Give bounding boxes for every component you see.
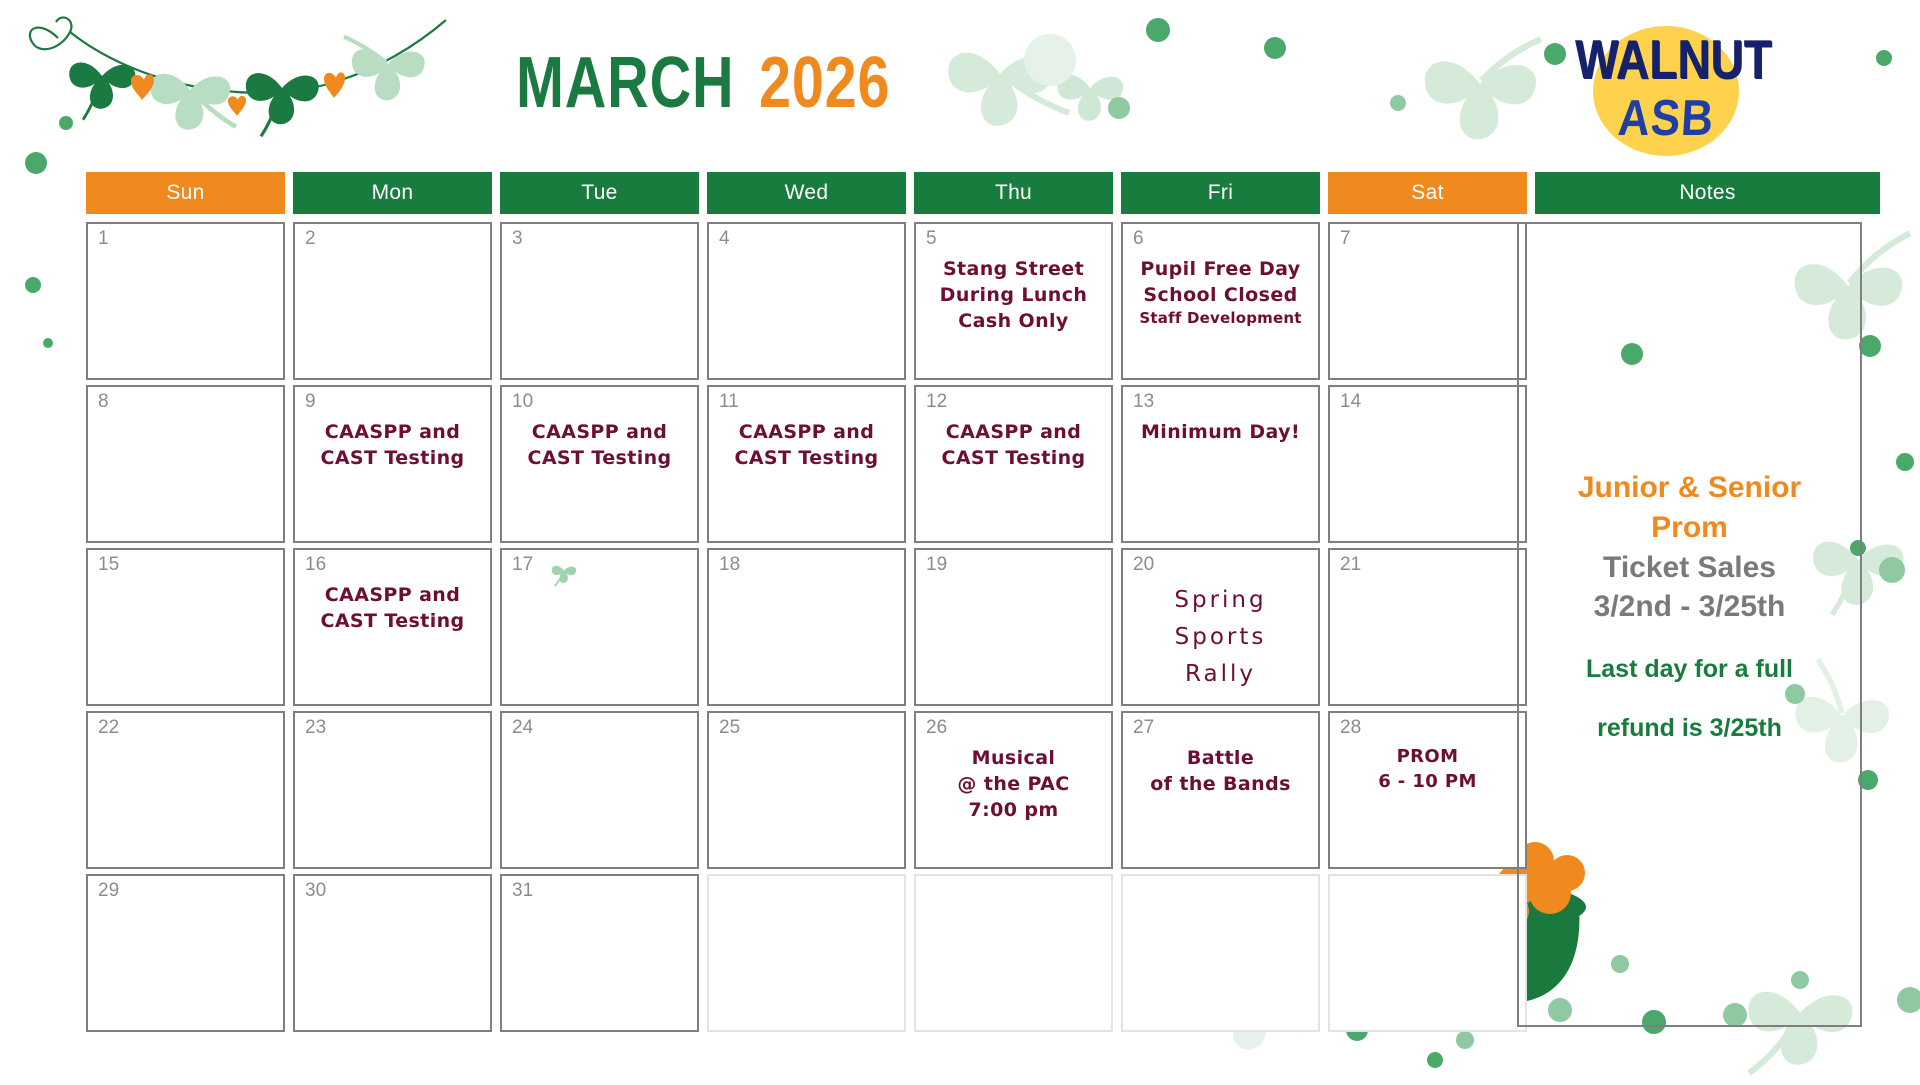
event-block: Spring Sports Rally — [1131, 582, 1310, 692]
day-number: 13 — [1133, 392, 1154, 411]
day-number: 30 — [305, 881, 326, 900]
calendar-cell[interactable]: 24 — [500, 711, 699, 869]
calendar-cell[interactable]: 30 — [293, 874, 492, 1032]
day-number: 4 — [719, 229, 730, 248]
calendar-cell[interactable]: 23 — [293, 711, 492, 869]
calendar-cell[interactable]: 1 — [86, 222, 285, 380]
calendar-cell[interactable]: 12CAASPP and CAST Testing — [914, 385, 1113, 543]
notes-line-3: Ticket Sales — [1533, 548, 1846, 588]
calendar-cell[interactable]: 9CAASPP and CAST Testing — [293, 385, 492, 543]
day-number: 12 — [926, 392, 947, 411]
event-text: CAASPP and CAST Testing — [303, 419, 482, 471]
title-month: MARCH — [516, 42, 734, 124]
calendar-cell[interactable]: 28PROM 6 - 10 PM — [1328, 711, 1527, 869]
calendar-cell-empty[interactable] — [707, 874, 906, 1032]
notes-line-4: 3/2nd - 3/25th — [1533, 587, 1846, 627]
day-number: 14 — [1340, 392, 1361, 411]
calendar-cell[interactable]: 10CAASPP and CAST Testing — [500, 385, 699, 543]
shamrock-garland-icon — [18, 6, 448, 141]
day-number: 11 — [719, 392, 739, 411]
calendar-cell[interactable]: 14 — [1328, 385, 1527, 543]
event-block: CAASPP and CAST Testing — [717, 419, 896, 471]
notes-line-5: Last day for a full — [1533, 653, 1846, 686]
day-number: 26 — [926, 718, 947, 737]
walnut-asb-logo: WALNUT ASB — [1575, 18, 1757, 168]
column-header-sat: Sat — [1328, 172, 1527, 214]
calendar-cell[interactable]: 31 — [500, 874, 699, 1032]
event-block: Stang Street During Lunch Cash Only — [924, 256, 1103, 335]
day-number: 24 — [512, 718, 533, 737]
day-number: 7 — [1340, 229, 1351, 248]
calendar-cell-empty[interactable] — [1121, 874, 1320, 1032]
day-number: 10 — [512, 392, 533, 411]
calendar-cell[interactable]: 17 — [500, 548, 699, 706]
notes-line-6: refund is 3/25th — [1533, 712, 1846, 745]
event-block: Battle of the Bands — [1131, 745, 1310, 797]
event-text: Minimum Day! — [1131, 419, 1310, 445]
calendar-cell[interactable]: 7 — [1328, 222, 1527, 380]
calendar-cell[interactable]: 29 — [86, 874, 285, 1032]
day-number: 15 — [98, 555, 119, 574]
calendar-cell[interactable]: 26Musical @ the PAC 7:00 pm — [914, 711, 1113, 869]
page-title: MARCH 2026 — [516, 42, 923, 124]
calendar-grid: 12345Stang Street During Lunch Cash Only… — [86, 222, 1527, 1032]
calendar-cell[interactable]: 16CAASPP and CAST Testing — [293, 548, 492, 706]
day-number: 17 — [512, 555, 533, 574]
logo-line-1: WALNUT — [1575, 27, 1757, 91]
calendar-cell[interactable]: 6Pupil Free Day School ClosedStaff Devel… — [1121, 222, 1320, 380]
day-number: 6 — [1133, 229, 1144, 248]
calendar-cell[interactable]: 13Minimum Day! — [1121, 385, 1320, 543]
event-text: CAASPP and CAST Testing — [303, 582, 482, 634]
calendar-cell[interactable]: 25 — [707, 711, 906, 869]
event-block: Pupil Free Day School ClosedStaff Develo… — [1131, 256, 1310, 329]
calendar-cell[interactable]: 18 — [707, 548, 906, 706]
day-number: 5 — [926, 229, 937, 248]
calendar-cell-empty[interactable] — [914, 874, 1113, 1032]
calendar-cell[interactable]: 22 — [86, 711, 285, 869]
column-header-thu: Thu — [914, 172, 1113, 214]
event-text: Battle of the Bands — [1131, 745, 1310, 797]
column-header-tue: Tue — [500, 172, 699, 214]
logo-line-2: ASB — [1573, 90, 1758, 148]
day-number: 1 — [98, 229, 109, 248]
day-number: 25 — [719, 718, 740, 737]
day-number: 9 — [305, 392, 316, 411]
event-block: CAASPP and CAST Testing — [303, 419, 482, 471]
event-block: CAASPP and CAST Testing — [303, 582, 482, 634]
calendar-cell[interactable]: 5Stang Street During Lunch Cash Only — [914, 222, 1113, 380]
event-subtext: Staff Development — [1131, 308, 1310, 329]
weekday-header-row: SunMonTueWedThuFriSatNotes — [86, 172, 1880, 214]
column-header-sun: Sun — [86, 172, 285, 214]
calendar-cell[interactable]: 8 — [86, 385, 285, 543]
day-number: 16 — [305, 555, 326, 574]
event-text: Stang Street During Lunch Cash Only — [924, 256, 1103, 335]
day-number: 19 — [926, 555, 947, 574]
event-text: Pupil Free Day School Closed — [1131, 256, 1310, 308]
calendar-page: MARCH 2026 WALNUT ASB SunMonTueWedThuFri… — [0, 0, 1920, 1080]
shamrock-icon — [548, 556, 582, 590]
day-number: 31 — [512, 881, 533, 900]
event-block: CAASPP and CAST Testing — [924, 419, 1103, 471]
event-text: CAASPP and CAST Testing — [510, 419, 689, 471]
day-number: 22 — [98, 718, 119, 737]
day-number: 20 — [1133, 555, 1154, 574]
day-number: 27 — [1133, 718, 1154, 737]
event-text: Musical @ the PAC 7:00 pm — [924, 745, 1103, 824]
calendar-cell[interactable]: 4 — [707, 222, 906, 380]
event-text: Spring Sports Rally — [1131, 582, 1310, 692]
notes-line-2: Prom — [1533, 508, 1846, 548]
calendar-cell[interactable]: 15 — [86, 548, 285, 706]
event-block: Musical @ the PAC 7:00 pm — [924, 745, 1103, 824]
event-text: CAASPP and CAST Testing — [717, 419, 896, 471]
event-block: Minimum Day! — [1131, 419, 1310, 445]
day-number: 2 — [305, 229, 316, 248]
notes-panel[interactable]: Junior & Senior Prom Ticket Sales 3/2nd … — [1517, 222, 1862, 1027]
event-block: PROM 6 - 10 PM — [1338, 745, 1517, 795]
column-header-mon: Mon — [293, 172, 492, 214]
column-header-fri: Fri — [1121, 172, 1320, 214]
column-header-wed: Wed — [707, 172, 906, 214]
day-number: 23 — [305, 718, 326, 737]
calendar-cell[interactable]: 27Battle of the Bands — [1121, 711, 1320, 869]
day-number: 18 — [719, 555, 740, 574]
calendar-cell[interactable]: 19 — [914, 548, 1113, 706]
day-number: 21 — [1340, 555, 1361, 574]
event-text: CAASPP and CAST Testing — [924, 419, 1103, 471]
calendar-cell[interactable]: 11CAASPP and CAST Testing — [707, 385, 906, 543]
day-number: 29 — [98, 881, 119, 900]
calendar-cell[interactable]: 21 — [1328, 548, 1527, 706]
clover-cluster-topright-icon — [1400, 14, 1580, 164]
event-text: PROM 6 - 10 PM — [1338, 745, 1517, 795]
notes-line-1: Junior & Senior — [1533, 468, 1846, 508]
day-number: 3 — [512, 229, 523, 248]
title-year: 2026 — [759, 42, 890, 124]
calendar-cell[interactable]: 20Spring Sports Rally — [1121, 548, 1320, 706]
calendar-cell-empty[interactable] — [1328, 874, 1527, 1032]
clover-cluster-top-icon — [940, 18, 1160, 148]
calendar-cell[interactable]: 3 — [500, 222, 699, 380]
day-number: 8 — [98, 392, 109, 411]
column-header-notes: Notes — [1535, 172, 1880, 214]
day-number: 28 — [1340, 718, 1361, 737]
event-block: CAASPP and CAST Testing — [510, 419, 689, 471]
calendar-cell[interactable]: 2 — [293, 222, 492, 380]
